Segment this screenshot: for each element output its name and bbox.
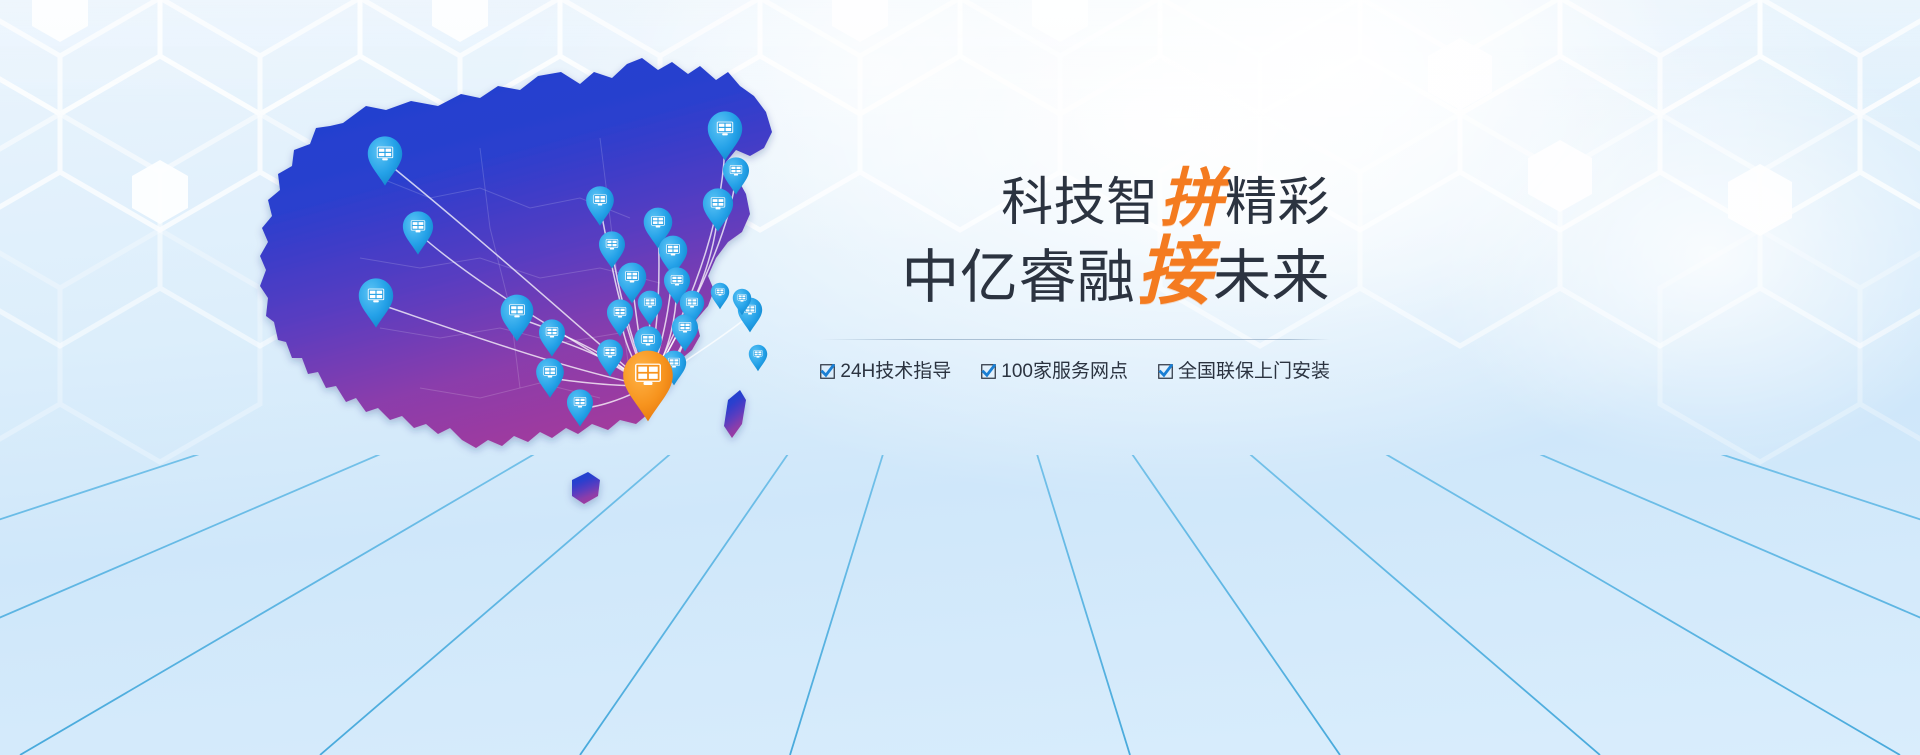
- feature-label: 全国联保上门安装: [1178, 362, 1330, 381]
- headline-line2-pre: 中亿睿融: [901, 245, 1135, 310]
- checkbox-checked-icon: [981, 364, 996, 379]
- feature-item-service-points: 100家服务网点: [981, 362, 1128, 381]
- headline-line-2: 中亿睿融接未来: [770, 238, 1330, 313]
- headline-line2-accent: 接: [1135, 232, 1213, 314]
- headline-line2-post: 未来: [1213, 245, 1330, 310]
- hero-copy: 科技智拼精彩 中亿睿融接未来 24H技术指导 100家服务网点: [770, 168, 1330, 381]
- headline-line-1: 科技智拼精彩: [770, 168, 1330, 234]
- map-pin-taiwan[interactable]: [711, 283, 729, 309]
- feature-item-support: 24H技术指导: [820, 362, 951, 381]
- hero-banner: 科技智拼精彩 中亿睿融接未来 24H技术指导 100家服务网点: [0, 0, 1920, 755]
- feature-label: 100家服务网点: [1001, 362, 1128, 381]
- map-pin-offshore[interactable]: [749, 345, 767, 371]
- checkbox-checked-icon: [1158, 364, 1173, 379]
- headline: 科技智拼精彩 中亿睿融接未来: [770, 168, 1330, 313]
- china-service-map: [180, 28, 800, 588]
- feature-item-installation: 全国联保上门安装: [1158, 362, 1330, 381]
- headline-line1-accent: 拼: [1159, 163, 1225, 234]
- feature-label: 24H技术指导: [840, 362, 951, 381]
- headline-line1-pre: 科技智: [1001, 174, 1158, 232]
- checkbox-checked-icon: [820, 364, 835, 379]
- headline-divider: [820, 339, 1330, 340]
- headline-line1-post: 精彩: [1225, 174, 1330, 232]
- feature-list: 24H技术指导 100家服务网点 全国联保上门安装: [770, 362, 1330, 381]
